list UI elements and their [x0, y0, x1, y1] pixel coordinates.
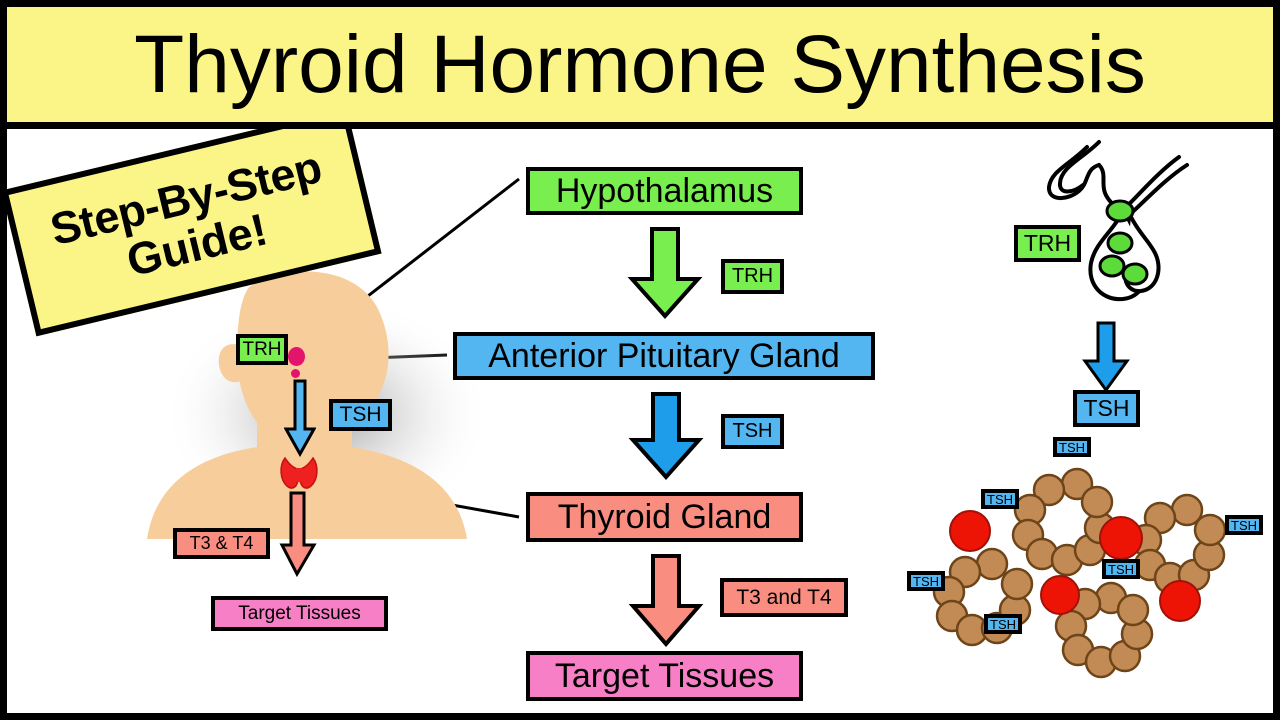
- content-area: TRH TSH T3 & T4 Target Tissues Hypothala…: [7, 129, 1273, 713]
- follicle-ring: [1013, 469, 1115, 575]
- arrow-pituitary-to-thyroid: [627, 392, 705, 480]
- human-tsh-label: TSH: [329, 399, 392, 431]
- human-trh-label: TRH: [236, 334, 288, 365]
- blood-cell: [1041, 576, 1079, 614]
- human-t3t4-arrow: [279, 491, 317, 577]
- blood-cell: [1100, 517, 1142, 559]
- node-thyroid-gland[interactable]: Thyroid Gland: [526, 492, 803, 542]
- follicle-tsh-label: TSH: [981, 489, 1019, 509]
- follicle-ring: [1131, 495, 1225, 593]
- human-tsh-arrow: [284, 379, 316, 457]
- node-target-tissues[interactable]: Target Tissues: [526, 651, 803, 701]
- label-tsh: TSH: [721, 414, 784, 449]
- follicle-tsh-label: TSH: [1225, 515, 1263, 535]
- follicle-tsh-label: TSH: [907, 571, 945, 591]
- follicle-tsh-label: TSH: [1053, 437, 1091, 457]
- label-t3-and-t4: T3 and T4: [720, 578, 848, 617]
- node-hypothalamus[interactable]: Hypothalamus: [526, 167, 803, 215]
- blood-cell: [1160, 581, 1200, 621]
- blood-cell: [950, 511, 990, 551]
- title-banner: Thyroid Hormone Synthesis: [7, 7, 1273, 129]
- diagram-canvas: Thyroid Hormone Synthesis: [0, 0, 1280, 720]
- arrow-thyroid-to-target: [627, 554, 705, 647]
- arrow-hypothalamus-to-pituitary: [627, 227, 703, 319]
- pituitary-tsh-arrow: [1082, 321, 1130, 393]
- thyroid-gland-icon: [277, 454, 321, 494]
- human-target-tissues-box: Target Tissues: [211, 596, 388, 631]
- follicle-tsh-label: TSH: [1102, 559, 1140, 579]
- node-anterior-pituitary[interactable]: Anterior Pituitary Gland: [453, 332, 875, 380]
- pituitary-trh-label: TRH: [1014, 225, 1081, 262]
- thyroid-follicles-illustration: [897, 434, 1267, 684]
- follicle-tsh-label: TSH: [984, 614, 1022, 634]
- page-title: Thyroid Hormone Synthesis: [134, 24, 1146, 106]
- label-trh: TRH: [721, 259, 784, 294]
- hypothalamus-marker-dot: [288, 347, 305, 366]
- pituitary-tsh-label: TSH: [1073, 390, 1140, 427]
- pituitary-marker-dot: [291, 369, 300, 378]
- human-t3t4-label: T3 & T4: [173, 528, 270, 559]
